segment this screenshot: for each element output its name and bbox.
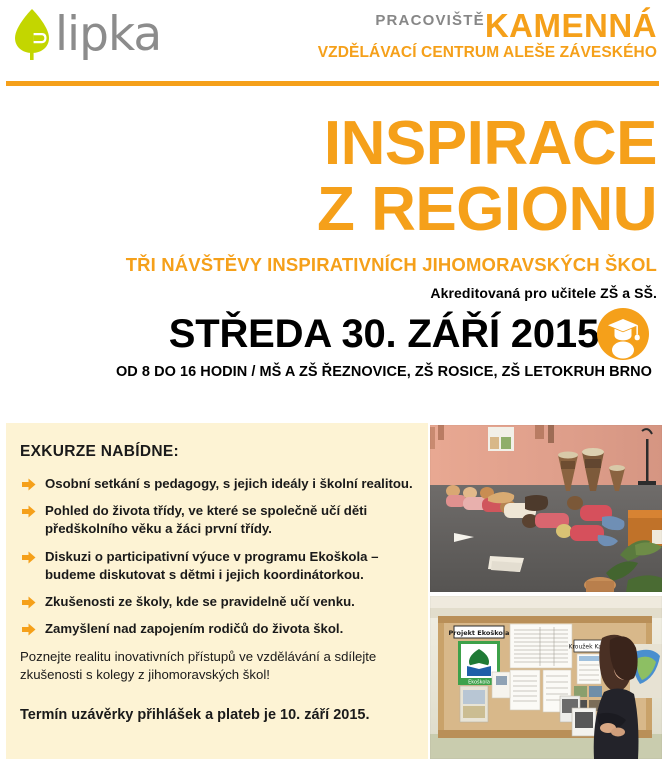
photo-children-lying-on-floor-image	[430, 425, 662, 592]
graduation-cap-icon	[597, 308, 649, 360]
list-item-label: Zkušenosti ze školy, kde se pravidelně u…	[45, 594, 355, 609]
arrow-bullet-icon	[22, 505, 36, 518]
title-block: INSPIRACE Z REGIONU TŘI NÁVŠTĚVY INSPIRA…	[0, 86, 665, 380]
offer-panel: EXKURZE NABÍDNE: Osobní setkání s pedago…	[6, 423, 428, 759]
arrow-bullet-icon	[22, 551, 36, 564]
pracoviste-label: PRACOVIŠTĚ	[375, 12, 485, 29]
event-date: STŘEDA 30. ZÁŘÍ 2015	[169, 312, 599, 356]
photo-column: Projekt Ekoškola Ekoškola	[430, 425, 662, 759]
list-item: Osobní setkání s pedagogy, s jejich ideá…	[20, 475, 414, 493]
panel-paragraph: Poznejte realitu inovativních přístupů v…	[20, 648, 414, 685]
lipka-logo[interactable]: lipka	[12, 8, 161, 60]
list-item: Zamyšlení nad zapojením rodičů do života…	[20, 620, 414, 638]
center-subtitle: VZDĚLÁVACÍ CENTRUM ALEŠE ZÁVESKÉHO	[318, 45, 657, 61]
list-item: Pohled do života třídy, ve které se spol…	[20, 502, 414, 538]
graduation-cap-badge	[597, 308, 649, 360]
list-item: Diskuzi o participativní výuce v program…	[20, 548, 414, 584]
list-item-label: Pohled do života třídy, ve které se spol…	[45, 503, 367, 536]
arrow-bullet-icon	[22, 623, 36, 636]
registration-deadline: Termín uzávěrky přihlášek a plateb je 10…	[20, 707, 414, 723]
page-title-line-2: Z REGIONU	[0, 174, 657, 240]
list-item-label: Osobní setkání s pedagogy, s jejich ideá…	[45, 476, 413, 491]
list-item-label: Diskuzi o participativní výuce v program…	[45, 549, 378, 582]
photo-ekoskola-noticeboard-image: Projekt Ekoškola Ekoškola	[430, 596, 662, 759]
photo-children-lying-on-floor	[430, 425, 662, 592]
site-name: KAMENNÁ	[485, 7, 657, 44]
body-area: EXKURZE NABÍDNE: Osobní setkání s pedago…	[0, 423, 665, 759]
offer-bullet-list: Osobní setkání s pedagogy, s jejich ideá…	[20, 475, 414, 639]
arrow-bullet-icon	[22, 478, 36, 491]
event-date-row: STŘEDA 30. ZÁŘÍ 2015	[0, 308, 657, 360]
photo-ekoskola-noticeboard: Projekt Ekoškola Ekoškola	[430, 596, 662, 759]
event-venue: OD 8 DO 16 HODIN / MŠ A ZŠ ŘEZNOVICE, ZŠ…	[0, 364, 657, 380]
page-title-line-1: INSPIRACE	[0, 86, 657, 174]
panel-heading: EXKURZE NABÍDNE:	[20, 443, 414, 461]
leaf-icon	[12, 8, 52, 60]
logo-wordmark: lipka	[55, 11, 161, 58]
accreditation-note: Akreditovaná pro učitele ZŠ a SŠ.	[0, 285, 657, 301]
svg-text:Projekt Ekoškola: Projekt Ekoškola	[449, 629, 510, 637]
header-site-identity: PRACOVIŠTĚKAMENNÁ VZDĚLÁVACÍ CENTRUM ALE…	[318, 9, 657, 61]
list-item: Zkušenosti ze školy, kde se pravidelně u…	[20, 593, 414, 611]
page-subtitle: TŘI NÁVŠTĚVY INSPIRATIVNÍCH JIHOMORAVSKÝ…	[0, 254, 657, 276]
svg-text:Ekoškola: Ekoškola	[468, 679, 490, 686]
list-item-label: Zamyšlení nad zapojením rodičů do života…	[45, 621, 343, 636]
arrow-bullet-icon	[22, 596, 36, 609]
page-header: lipka PRACOVIŠTĚKAMENNÁ VZDĚLÁVACÍ CENTR…	[0, 0, 665, 86]
